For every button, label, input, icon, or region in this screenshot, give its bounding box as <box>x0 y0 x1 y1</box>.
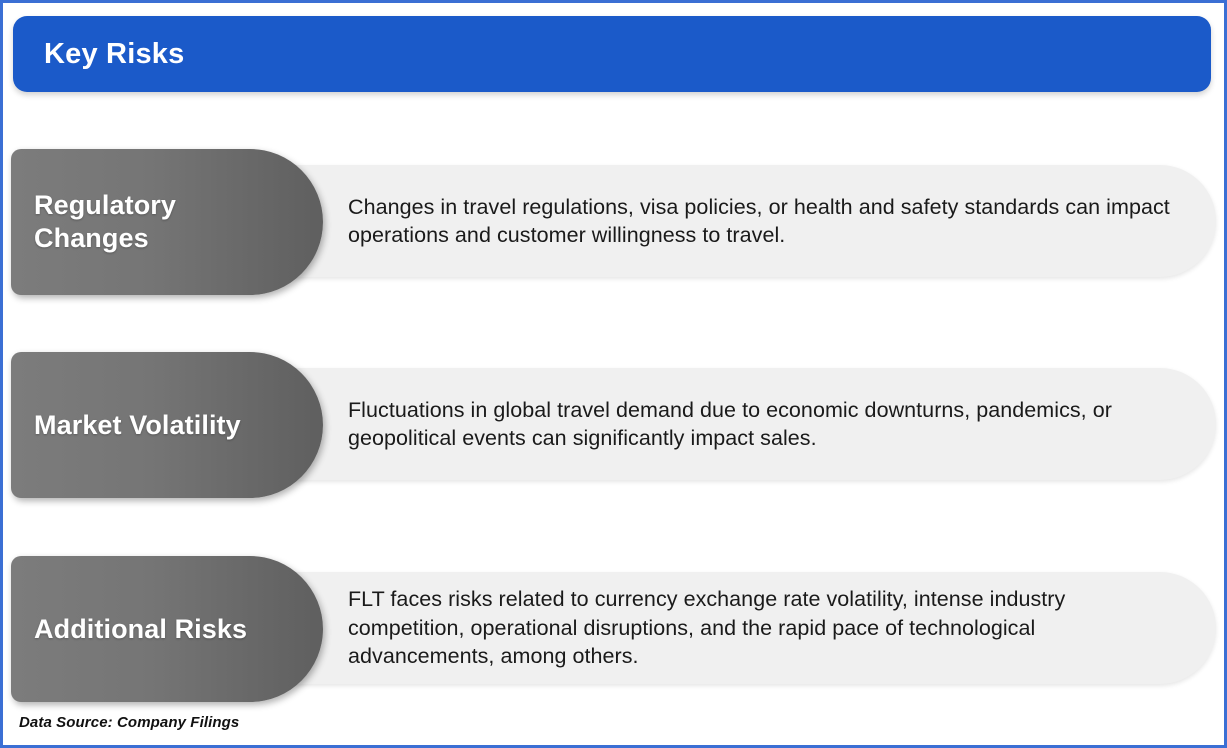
slide-header-bar: Key Risks <box>13 16 1211 92</box>
risk-description-panel: Changes in travel regulations, visa poli… <box>243 165 1216 277</box>
risk-description-panel: FLT faces risks related to currency exch… <box>243 572 1216 684</box>
risk-description-panel: Fluctuations in global travel demand due… <box>243 368 1216 480</box>
risk-row: FLT faces risks related to currency exch… <box>3 556 1224 702</box>
risk-description-text: Changes in travel regulations, visa poli… <box>243 193 1216 250</box>
risk-label-pill: Market Volatility <box>11 352 323 498</box>
risk-label-text: Market Volatility <box>11 409 301 442</box>
data-source-note: Data Source: Company Filings <box>19 714 239 731</box>
risk-label-pill: Additional Risks <box>11 556 323 702</box>
risk-label-text: Regulatory Changes <box>11 189 323 255</box>
risk-description-text: Fluctuations in global travel demand due… <box>243 396 1216 453</box>
risk-description-text: FLT faces risks related to currency exch… <box>243 585 1216 670</box>
page-title: Key Risks <box>13 38 184 71</box>
key-risks-slide: Key Risks Changes in travel regulations,… <box>0 0 1227 748</box>
risk-row: Changes in travel regulations, visa poli… <box>3 149 1224 295</box>
risk-row: Fluctuations in global travel demand due… <box>3 352 1224 498</box>
risk-label-pill: Regulatory Changes <box>11 149 323 295</box>
risk-label-text: Additional Risks <box>11 613 307 646</box>
